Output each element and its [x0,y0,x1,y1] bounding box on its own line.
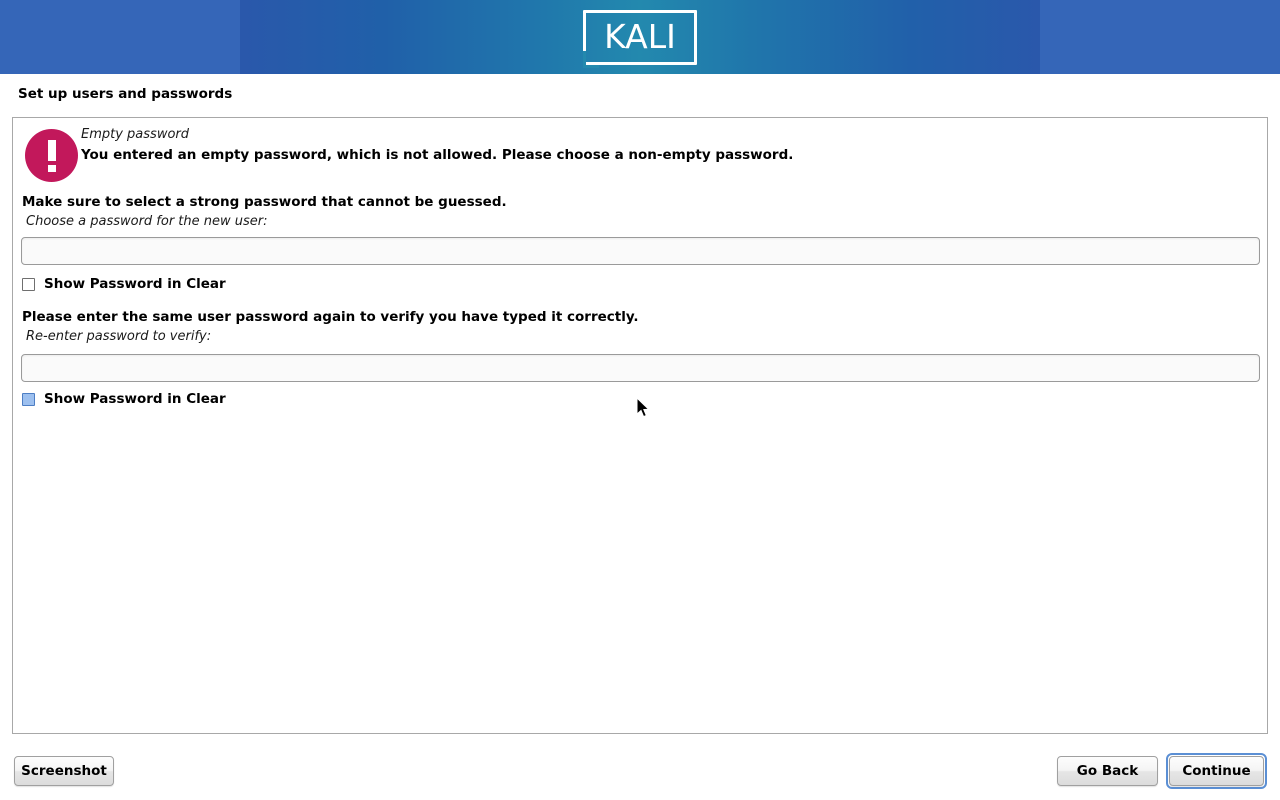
main-content-panel: Empty password You entered an empty pass… [12,117,1268,734]
continue-button[interactable]: Continue [1169,756,1264,786]
password-field-label: Choose a password for the new user: [26,214,268,229]
show-password-in-clear-row-2[interactable]: Show Password in Clear [22,391,226,407]
verify-field-label: Re-enter password to verify: [26,329,211,344]
show-password-label-1: Show Password in Clear [44,276,226,292]
verify-password-hint: Please enter the same user password agai… [22,309,639,325]
go-back-button[interactable]: Go Back [1057,756,1158,786]
verify-password-input[interactable] [21,354,1260,382]
strong-password-hint: Make sure to select a strong password th… [22,194,507,210]
screenshot-button[interactable]: Screenshot [14,756,114,786]
kali-logo-text: KALI [583,10,697,65]
error-exclamation-icon [25,129,78,182]
continue-button-focus-ring: Continue [1166,753,1267,789]
error-title: Empty password [81,127,189,142]
exclamation-stem [48,140,56,161]
exclamation-dot [48,165,56,172]
page-title: Set up users and passwords [18,86,232,102]
error-message: You entered an empty password, which is … [81,147,793,163]
show-password-in-clear-row-1[interactable]: Show Password in Clear [22,276,226,292]
show-password-checkbox-1[interactable] [22,278,35,291]
installer-banner: KALI [0,0,1280,74]
show-password-checkbox-2[interactable] [22,393,35,406]
password-input[interactable] [21,237,1260,265]
kali-logo: KALI [583,10,697,65]
kali-logo-notch-bottom [583,65,599,68]
show-password-label-2: Show Password in Clear [44,391,226,407]
